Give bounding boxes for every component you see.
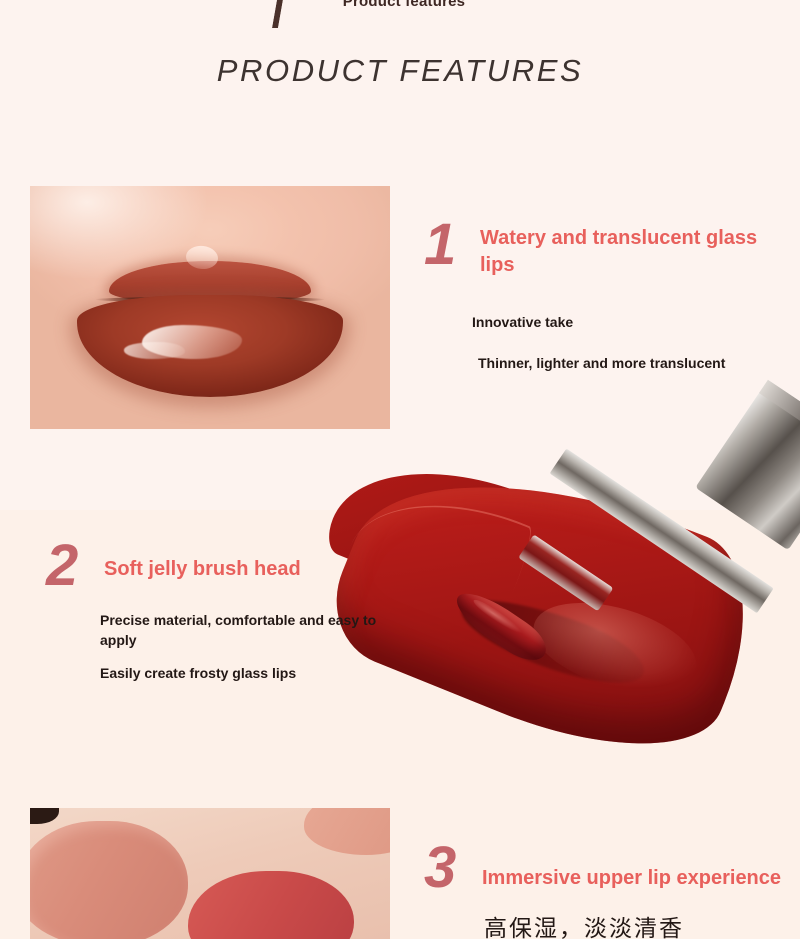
product-features-page: Product features PRODUCT FEATURES 1 Wate… <box>0 0 800 939</box>
feature-headline-1: Watery and translucent glass lips <box>480 225 760 279</box>
header-eyebrow: Product features <box>0 0 800 12</box>
page-title: PRODUCT FEATURES <box>0 53 800 89</box>
corner-bracket-icon <box>272 0 332 28</box>
gloss-smear-group <box>338 452 758 752</box>
lip-gloss-highlight-secondary <box>124 342 185 359</box>
eyebrow-inner: Product features <box>335 0 465 12</box>
eyebrow-label: Product features <box>343 0 465 10</box>
feature-line-1-1: Innovative take <box>472 312 782 332</box>
skin-swatches-photo <box>30 808 390 939</box>
feature-numeral-2: 2 <box>46 537 77 595</box>
feature-line-2-1: Precise material, comfortable and easy t… <box>100 610 400 650</box>
feature-headline-2: Soft jelly brush head <box>104 556 404 583</box>
feature-numeral-1: 1 <box>424 216 455 274</box>
feature-line-3-1: 高保湿，淡淡清香 <box>484 918 784 938</box>
glossy-lips-photo <box>30 186 390 429</box>
feature-headline-3: Immersive upper lip experience <box>482 865 782 892</box>
feature-numeral-3: 3 <box>424 839 455 897</box>
feature-line-1-2: Thinner, lighter and more translucent <box>478 353 798 373</box>
feature-line-2-2: Easily create frosty glass lips <box>100 663 410 683</box>
swatch-shade-a <box>30 821 188 939</box>
lipgloss-wand-swatch-photo <box>330 432 800 782</box>
